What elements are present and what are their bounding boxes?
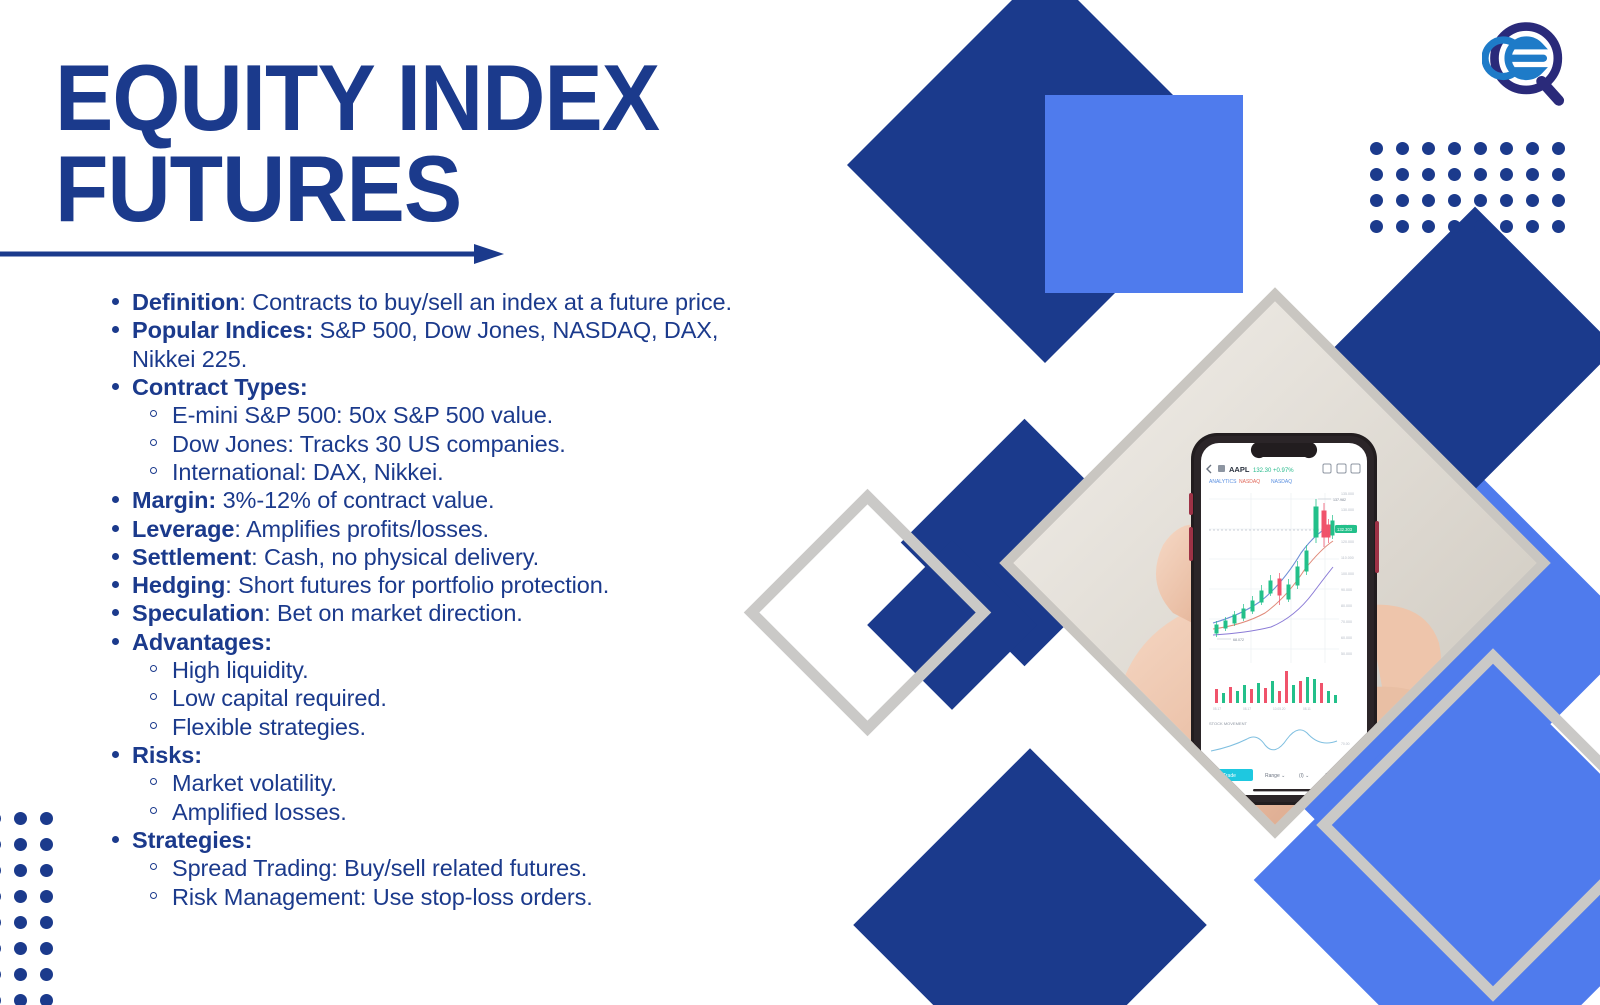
dot: [1422, 142, 1435, 155]
svg-text:137.982: 137.982: [1333, 498, 1346, 502]
dot: [14, 968, 27, 981]
sub-list-item: Dow Jones: Tracks 30 US companies.: [132, 430, 780, 458]
dot: [1370, 194, 1383, 207]
svg-text:90.000: 90.000: [1341, 588, 1352, 592]
list-item: Risks:Market volatility.Amplified losses…: [100, 741, 780, 826]
gray-outline-diamond-left: [744, 489, 991, 736]
dot: [1500, 142, 1513, 155]
bullet-marker-icon: [112, 638, 119, 645]
svg-text:80.000: 80.000: [1341, 604, 1352, 608]
title-underline-arrow: [0, 243, 505, 265]
svg-text:AAPL: AAPL: [1229, 465, 1250, 474]
bullet-marker-icon: [112, 553, 119, 560]
bullet-marker-icon: [112, 496, 119, 503]
list-item: Strategies:Spread Trading: Buy/sell rela…: [100, 826, 780, 911]
dot: [1422, 168, 1435, 181]
svg-text:50.000: 50.000: [1341, 652, 1352, 656]
navy-diamond-mid: [901, 419, 1148, 666]
bullet-marker-icon: [112, 751, 119, 758]
dot: [1474, 220, 1487, 233]
list-item-lead: Popular Indices:: [132, 317, 313, 343]
list-item-lead: Risks:: [132, 742, 202, 768]
blue-square-top: [1045, 95, 1243, 293]
svg-text:132.30 +0.97%: 132.30 +0.97%: [1253, 468, 1294, 474]
dot: [1500, 220, 1513, 233]
dot: [40, 994, 53, 1005]
dot: [1474, 142, 1487, 155]
dot: [40, 864, 53, 877]
hand-illustration: AAPL 132.30 +0.97% ANALYTICS NASDAQ NASD…: [1013, 301, 1536, 824]
bullet-marker-icon: [112, 836, 119, 843]
dot: [14, 864, 27, 877]
svg-text:120.000: 120.000: [1341, 540, 1354, 544]
sub-bullet-marker-icon: [150, 439, 157, 446]
dot: [40, 942, 53, 955]
list-item-text: : Short futures for portfolio protection…: [225, 572, 609, 598]
sub-bullet-marker-icon: [150, 410, 157, 417]
svg-text:70.00: 70.00: [1341, 742, 1350, 746]
svg-text:Range ⌄: Range ⌄: [1265, 773, 1285, 779]
sub-list-item: Flexible strategies.: [132, 713, 780, 741]
list-item-text: : Amplifies profits/losses.: [234, 516, 489, 542]
list-item-lead: Settlement: [132, 544, 251, 570]
photo-diamond-frame: AAPL 132.30 +0.97% ANALYTICS NASDAQ NASD…: [999, 287, 1551, 839]
dot: [1370, 142, 1383, 155]
page-title: EQUITY INDEX FUTURES: [55, 52, 725, 234]
dot: [14, 916, 27, 929]
arrow-icon: [0, 243, 505, 265]
svg-text:STOCK MOVEMENT: STOCK MOVEMENT: [1209, 721, 1247, 726]
dot: [40, 916, 53, 929]
dot: [0, 864, 1, 877]
photo-diamond-inner: AAPL 132.30 +0.97% ANALYTICS NASDAQ NASD…: [1013, 301, 1536, 824]
dot: [1552, 168, 1565, 181]
sub-list-item: International: DAX, Nikkei.: [132, 458, 780, 486]
svg-text:135.000: 135.000: [1341, 492, 1354, 496]
dot: [40, 968, 53, 981]
list-item-text: : Cash, no physical delivery.: [251, 544, 539, 570]
svg-text:10.05.20: 10.05.20: [1273, 707, 1286, 711]
sub-list-item-text: Risk Management: Use stop-loss orders.: [172, 884, 593, 910]
dot: [1448, 142, 1461, 155]
dot: [0, 994, 1, 1005]
dot: [1448, 220, 1461, 233]
dot: [14, 994, 27, 1005]
list-item: Speculation: Bet on market direction.: [100, 599, 780, 627]
dot: [1448, 168, 1461, 181]
sub-list-item-text: Dow Jones: Tracks 30 US companies.: [172, 431, 566, 457]
navy-diamond-right-upper: [1334, 207, 1600, 490]
dot: [1552, 142, 1565, 155]
list-item: Definition: Contracts to buy/sell an ind…: [100, 288, 780, 316]
svg-text:60.000: 60.000: [1341, 636, 1352, 640]
navy-diamond-mid-lower: [867, 540, 1037, 710]
dot: [1526, 194, 1539, 207]
dot: [1552, 220, 1565, 233]
sub-list-item: Amplified losses.: [132, 798, 780, 826]
sub-bullet-marker-icon: [150, 863, 157, 870]
list-item-lead: Definition: [132, 289, 239, 315]
sub-list-item: E-mini S&P 500: 50x S&P 500 value.: [132, 401, 780, 429]
bullet-marker-icon: [112, 298, 119, 305]
sq-magnifier-icon: [1482, 16, 1578, 112]
dot: [0, 968, 1, 981]
photo-rotation-wrapper: AAPL 132.30 +0.97% ANALYTICS NASDAQ NASD…: [1013, 301, 1536, 824]
dot: [1396, 168, 1409, 181]
brand-logo[interactable]: [1482, 16, 1578, 112]
sub-list-item: Low capital required.: [132, 684, 780, 712]
dot: [1474, 168, 1487, 181]
sub-bullet-list: High liquidity.Low capital required.Flex…: [132, 656, 780, 741]
sub-bullet-marker-icon: [150, 693, 157, 700]
sub-bullet-marker-icon: [150, 778, 157, 785]
svg-text:1 Month ⌄: 1 Month ⌄: [1325, 773, 1349, 779]
sub-bullet-marker-icon: [150, 892, 157, 899]
list-item-lead: Contract Types:: [132, 374, 308, 400]
navy-diamond-large-top: [847, 0, 1243, 363]
dot: [14, 942, 27, 955]
sub-bullet-list: Market volatility.Amplified losses.: [132, 769, 780, 826]
svg-text:125.000: 125.000: [1341, 524, 1354, 528]
bullet-marker-icon: [112, 581, 119, 588]
svg-text:05.17: 05.17: [1213, 707, 1221, 711]
dot: [1396, 220, 1409, 233]
sub-bullet-marker-icon: [150, 807, 157, 814]
list-item-text: 3%-12% of contract value.: [216, 487, 494, 513]
list-item: Margin: 3%-12% of contract value.: [100, 486, 780, 514]
sub-bullet-list: E-mini S&P 500: 50x S&P 500 value.Dow Jo…: [132, 401, 780, 486]
list-item: Popular Indices: S&P 500, Dow Jones, NAS…: [100, 316, 780, 373]
list-item: Contract Types:E-mini S&P 500: 50x S&P 5…: [100, 373, 780, 486]
list-item-lead: Margin:: [132, 487, 216, 513]
dot: [14, 812, 27, 825]
bullet-marker-icon: [112, 383, 119, 390]
sub-list-item: Risk Management: Use stop-loss orders.: [132, 883, 780, 911]
dot: [1422, 194, 1435, 207]
svg-text:100.000: 100.000: [1341, 572, 1354, 576]
sub-list-item: Spread Trading: Buy/sell related futures…: [132, 854, 780, 882]
list-item-lead: Strategies:: [132, 827, 252, 853]
list-item: Leverage: Amplifies profits/losses.: [100, 515, 780, 543]
svg-text:NASDAQ: NASDAQ: [1239, 479, 1260, 485]
dot: [40, 838, 53, 851]
sub-list-item-text: High liquidity.: [172, 657, 309, 683]
title-block: EQUITY INDEX FUTURES: [55, 52, 775, 234]
dot: [0, 838, 1, 851]
dot: [14, 890, 27, 903]
list-item: Settlement: Cash, no physical delivery.: [100, 543, 780, 571]
sub-list-item-text: E-mini S&P 500: 50x S&P 500 value.: [172, 402, 553, 428]
list-item-lead: Hedging: [132, 572, 225, 598]
dot: [0, 916, 1, 929]
main-bullet-list: Definition: Contracts to buy/sell an ind…: [100, 288, 780, 911]
bullet-marker-icon: [112, 609, 119, 616]
svg-text:110.000: 110.000: [1341, 556, 1354, 560]
sub-list-item: Market volatility.: [132, 769, 780, 797]
sub-bullet-marker-icon: [150, 665, 157, 672]
gray-outline-diamond-bottom-right: [1316, 648, 1600, 1002]
sub-list-item-text: International: DAX, Nikkei.: [172, 459, 444, 485]
dot: [0, 812, 1, 825]
dot: [1370, 168, 1383, 181]
dot: [1552, 194, 1565, 207]
sub-bullet-marker-icon: [150, 467, 157, 474]
sub-list-item-text: Spread Trading: Buy/sell related futures…: [172, 855, 587, 881]
svg-text:70.000: 70.000: [1341, 620, 1352, 624]
svg-text:130.000: 130.000: [1341, 508, 1354, 512]
dot: [1500, 194, 1513, 207]
phone-photo: AAPL 132.30 +0.97% ANALYTICS NASDAQ NASD…: [1013, 301, 1536, 824]
dot: [40, 812, 53, 825]
dot: [1448, 194, 1461, 207]
svg-text:NASDAQ: NASDAQ: [1271, 479, 1292, 485]
sub-list-item-text: Market volatility.: [172, 770, 337, 796]
sub-list-item-text: Low capital required.: [172, 685, 387, 711]
navy-diamond-bottom-center: [853, 748, 1207, 1005]
dot: [40, 890, 53, 903]
sub-list-item: High liquidity.: [132, 656, 780, 684]
slide-root: AAPL 132.30 +0.97% ANALYTICS NASDAQ NASD…: [0, 0, 1600, 1005]
sub-bullet-marker-icon: [150, 722, 157, 729]
svg-text:68.072: 68.072: [1233, 638, 1244, 642]
svg-text:08.17: 08.17: [1243, 707, 1251, 711]
list-item-lead: Speculation: [132, 600, 264, 626]
dot: [0, 890, 1, 903]
dot: [1474, 194, 1487, 207]
list-item: Hedging: Short futures for portfolio pro…: [100, 571, 780, 599]
dot: [14, 838, 27, 851]
svg-text:Trade: Trade: [1223, 773, 1236, 779]
dot: [1396, 142, 1409, 155]
dot: [1370, 220, 1383, 233]
dot: [0, 942, 1, 955]
bullet-content: Definition: Contracts to buy/sell an ind…: [100, 288, 780, 911]
blue-diamond-large-bottom: [1130, 380, 1600, 889]
list-item-text: : Contracts to buy/sell an index at a fu…: [239, 289, 732, 315]
svg-text:(I) ⌄: (I) ⌄: [1299, 773, 1309, 779]
dot: [1526, 142, 1539, 155]
svg-text:08.11: 08.11: [1303, 707, 1311, 711]
dot: [1526, 220, 1539, 233]
list-item: Advantages:High liquidity.Low capital re…: [100, 628, 780, 741]
dot: [1422, 220, 1435, 233]
bullet-marker-icon: [112, 525, 119, 532]
bullet-marker-icon: [112, 326, 119, 333]
dot: [1500, 168, 1513, 181]
list-item-lead: Leverage: [132, 516, 234, 542]
list-item-lead: Advantages:: [132, 629, 272, 655]
sub-bullet-list: Spread Trading: Buy/sell related futures…: [132, 854, 780, 911]
sub-list-item-text: Flexible strategies.: [172, 714, 366, 740]
sub-list-item-text: Amplified losses.: [172, 799, 347, 825]
dot: [1526, 168, 1539, 181]
svg-text:ANALYTICS: ANALYTICS: [1209, 479, 1237, 485]
dot: [1396, 194, 1409, 207]
blue-diamond-bottom-right: [1254, 654, 1600, 1005]
svg-text:132.303: 132.303: [1337, 527, 1353, 532]
list-item-text: : Bet on market direction.: [264, 600, 523, 626]
